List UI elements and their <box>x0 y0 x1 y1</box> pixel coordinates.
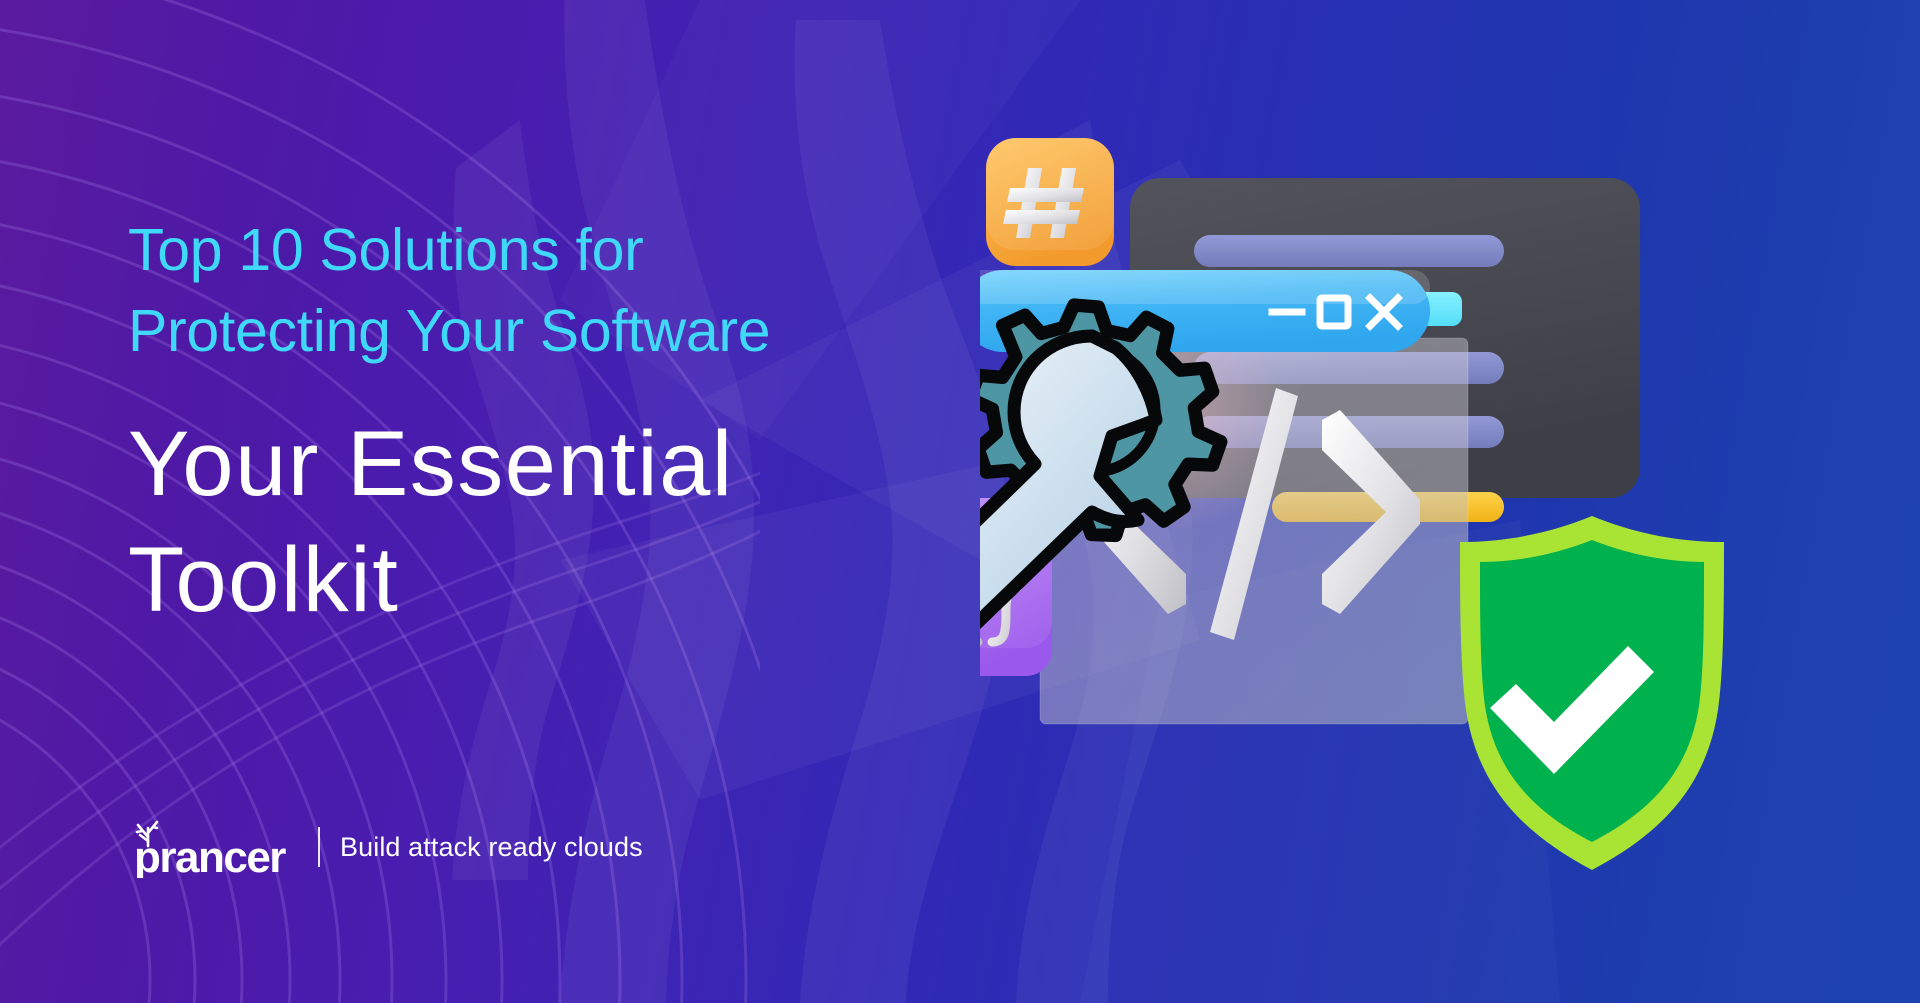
hero-illustration <box>980 120 1920 910</box>
panel-bar-1 <box>1194 235 1504 267</box>
eyebrow-text: Top 10 Solutions for Protecting Your Sof… <box>128 210 1068 373</box>
hashtag-tile[interactable] <box>986 138 1114 266</box>
page-title: Your Essential Toolkit <box>128 407 1068 639</box>
logo-tagline: Build attack ready clouds <box>340 832 643 863</box>
logo-wordmark-text: prancer <box>134 833 286 878</box>
logo-divider <box>318 827 320 867</box>
prancer-wordmark: prancer <box>128 816 298 878</box>
headline-block: Top 10 Solutions for Protecting Your Sof… <box>128 210 1068 639</box>
shield-check-icon <box>1460 516 1724 870</box>
brand-logo: prancer Build attack ready clouds <box>128 816 643 878</box>
banner-canvas: Top 10 Solutions for Protecting Your Sof… <box>0 0 1920 1003</box>
